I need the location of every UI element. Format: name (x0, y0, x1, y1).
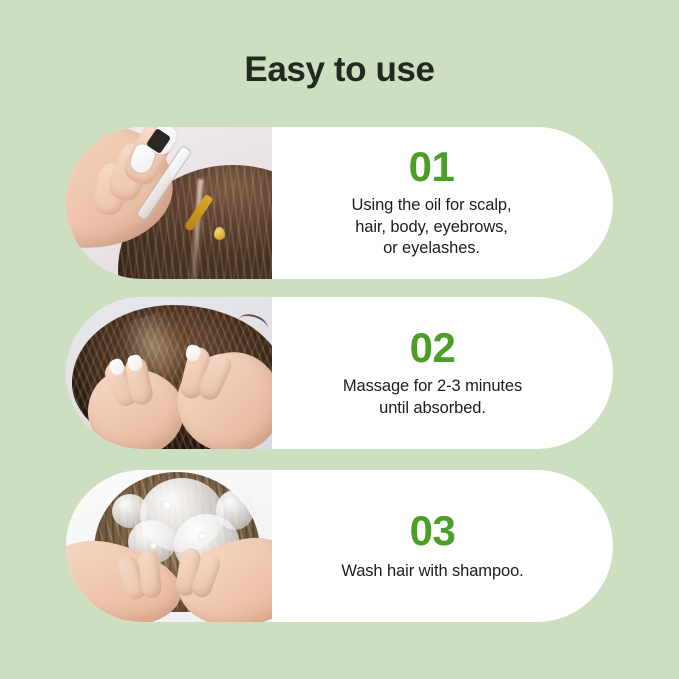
step-2-content: 02 Massage for 2-3 minutes until absorbe… (272, 297, 613, 449)
step-3-photo (66, 470, 272, 622)
oil-drop-icon (214, 227, 225, 240)
step-card-3: 03 Wash hair with shampoo. (66, 470, 613, 622)
step-2-text: Massage for 2-3 minutes until absorbed. (343, 376, 522, 419)
step-1-content: 01 Using the oil for scalp, hair, body, … (272, 127, 613, 279)
step-1-text: Using the oil for scalp, hair, body, eye… (352, 195, 512, 259)
step-3-text: Wash hair with shampoo. (341, 561, 523, 582)
step-card-1: 01 Using the oil for scalp, hair, body, … (66, 127, 613, 279)
step-card-2: 02 Massage for 2-3 minutes until absorbe… (66, 297, 613, 449)
step-3-content: 03 Wash hair with shampoo. (272, 470, 613, 622)
step-3-number: 03 (410, 510, 456, 552)
bubble-icon (162, 500, 172, 510)
bubble-icon (150, 542, 157, 549)
step-2-number: 02 (410, 327, 456, 369)
easy-to-use-infographic: Easy to use 01 Using the oil for scalp, … (0, 0, 679, 679)
page-title: Easy to use (0, 52, 679, 87)
step-1-photo (66, 127, 272, 279)
step-1-number: 01 (409, 146, 455, 188)
bubble-icon (198, 532, 206, 540)
step-2-photo (66, 297, 272, 449)
